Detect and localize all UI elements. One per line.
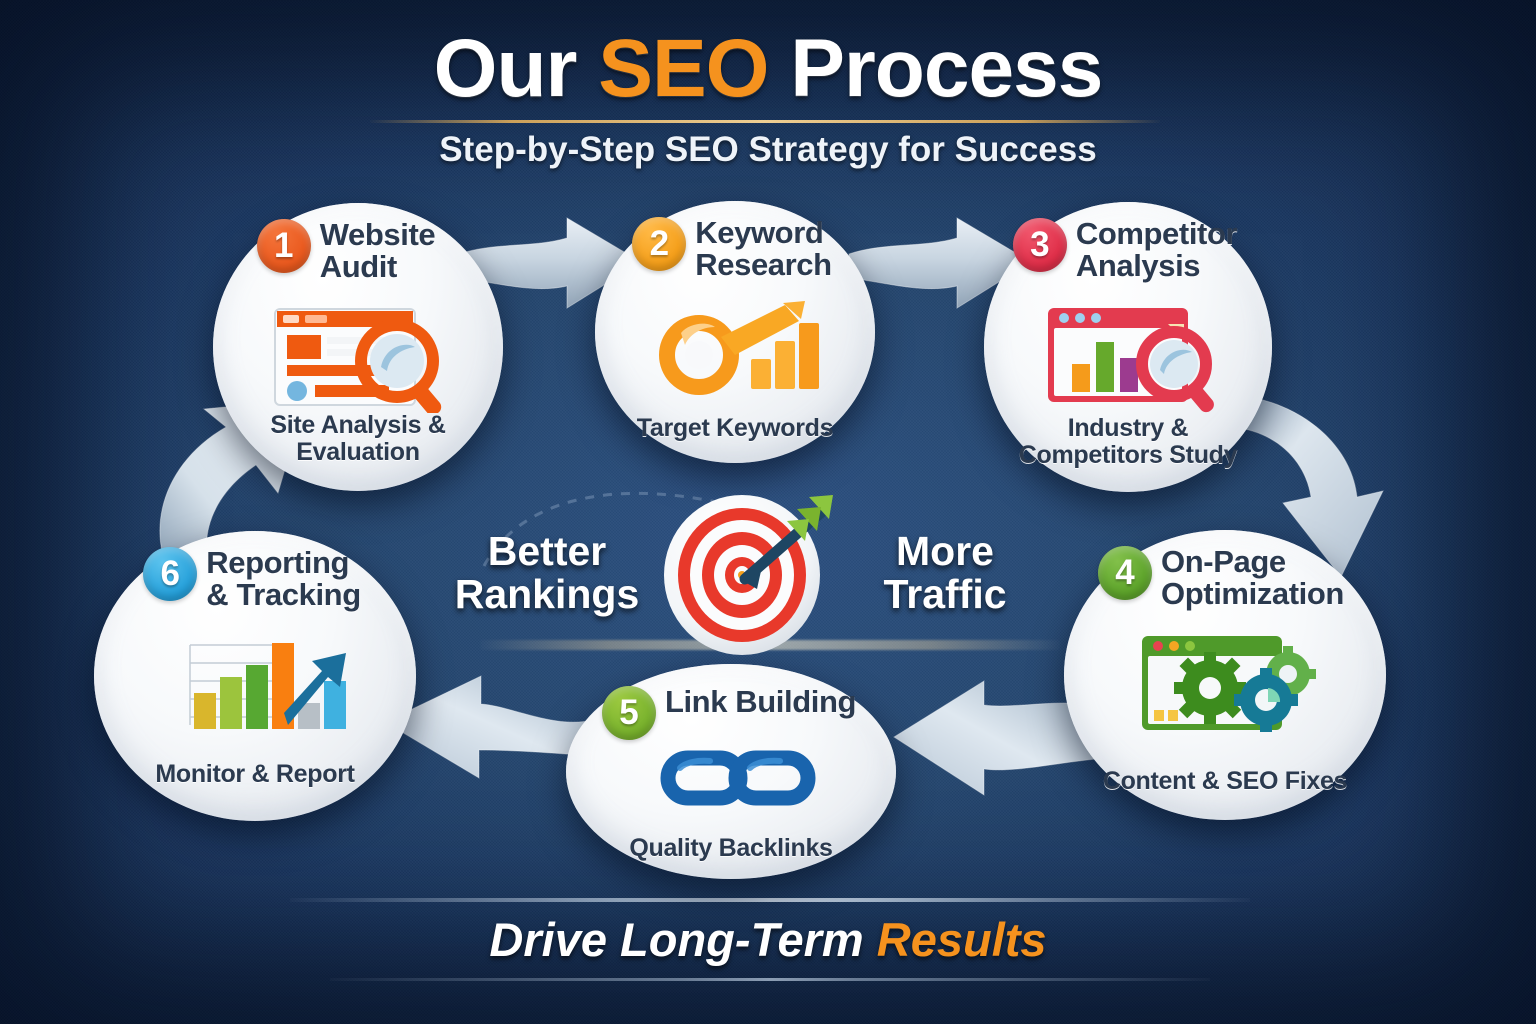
- center-label-better-rankings: Better Rankings: [432, 530, 662, 617]
- step-title-1: WebsiteAudit: [320, 219, 436, 282]
- step-caption-6: Monitor & Report: [94, 761, 416, 788]
- browser-gears-icon: [1138, 630, 1328, 740]
- page-title-post: Process: [768, 23, 1102, 114]
- step-node-keyword-research[interactable]: 2 KeywordResearch: [595, 201, 875, 463]
- step-title-6: Reporting& Tracking: [206, 547, 361, 610]
- footer-divider-bottom: [330, 978, 1210, 981]
- step-node-on-page-optimization[interactable]: 4 On-PageOptimization: [1064, 530, 1386, 820]
- chain-links-icon: [658, 742, 818, 812]
- step-title-4: On-PageOptimization: [1161, 546, 1344, 609]
- footer-tagline-pre: Drive Long-Term: [489, 913, 876, 966]
- step-badge-2: 2: [632, 217, 686, 271]
- step-badge-6: 6: [143, 547, 197, 601]
- target-dartboard-arrow-icon: [657, 493, 839, 657]
- step-title-5: Link Building: [665, 686, 856, 718]
- step-node-competitor-analysis[interactable]: 3 CompetitorAnalysis: [984, 202, 1272, 492]
- magnifier-bar-chart-icon: [659, 297, 824, 397]
- center-label-more-traffic: More Traffic: [850, 530, 1040, 617]
- page-subtitle: Step-by-Step SEO Strategy for Success: [0, 130, 1536, 170]
- page-title: Our SEO Process: [0, 22, 1536, 116]
- footer-divider-top: [290, 898, 1250, 902]
- step-node-reporting-tracking[interactable]: 6 Reporting& Tracking: [94, 531, 416, 821]
- step-caption-4: Content & SEO Fixes: [1064, 768, 1386, 795]
- step-title-3: CompetitorAnalysis: [1076, 218, 1237, 281]
- footer-tagline-accent: Results: [877, 913, 1047, 966]
- step-badge-1: 1: [257, 219, 311, 273]
- title-divider: [370, 120, 1160, 123]
- step-badge-4: 4: [1098, 546, 1152, 600]
- step-node-link-building[interactable]: 5 Link Building Qualit: [566, 664, 896, 879]
- footer-tagline: Drive Long-Term Results: [0, 912, 1536, 967]
- step-caption-3: Industry &Competitors Study: [984, 415, 1272, 468]
- browser-bar-chart-magnifier-icon: [1044, 302, 1229, 414]
- step-badge-5: 5: [602, 686, 656, 740]
- bar-chart-growth-arrow-icon: [166, 629, 356, 741]
- step-caption-2: Target Keywords: [595, 415, 875, 442]
- browser-window-magnifier-icon: [269, 303, 459, 413]
- step-node-website-audit[interactable]: 1 WebsiteAudit: [213, 203, 503, 491]
- step-title-2: KeywordResearch: [695, 217, 831, 280]
- step-caption-5: Quality Backlinks: [566, 835, 896, 862]
- step-caption-1: Site Analysis &Evaluation: [213, 412, 503, 465]
- page-title-pre: Our: [434, 23, 599, 114]
- infographic-canvas: Our SEO Process Step-by-Step SEO Strateg…: [0, 0, 1536, 1024]
- page-title-accent: SEO: [598, 23, 768, 114]
- step-badge-3: 3: [1013, 218, 1067, 272]
